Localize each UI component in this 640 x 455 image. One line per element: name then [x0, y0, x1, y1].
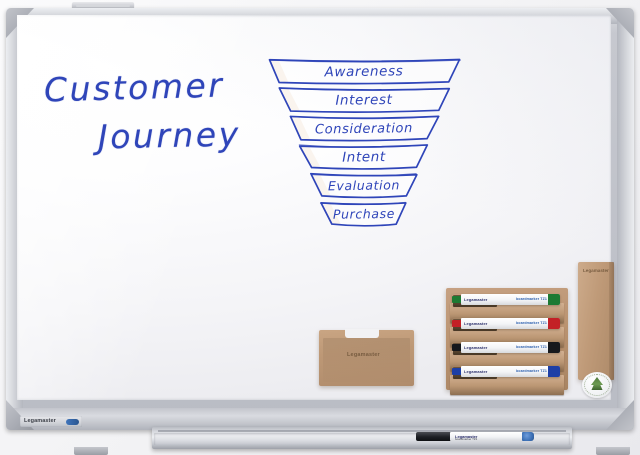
handwriting-line-customer: Customer — [43, 65, 224, 109]
whiteboard-scene: Legamaster Customer Journey AwarenessInt… — [0, 0, 640, 455]
marker-blue[interactable]: Legamasterboardmarker TZ1 — [452, 366, 560, 377]
funnel-stage-consideration: Consideration — [290, 116, 439, 140]
marker-brand: Legamaster — [464, 345, 487, 350]
funnel-stage-label: Intent — [342, 149, 386, 166]
funnel-stage-awareness: Awareness — [270, 59, 461, 83]
tray-mount-left — [74, 447, 108, 455]
eco-tree-badge-icon — [582, 372, 612, 398]
funnel-stage-evaluation: Evaluation — [311, 174, 417, 198]
marker-black[interactable]: Legamasterboardmarker TZ1 — [452, 342, 560, 353]
tray-marker-cap — [416, 432, 454, 441]
funnel-stage-label: Consideration — [315, 121, 413, 137]
marker-model: boardmarker TZ1 — [516, 345, 547, 349]
tall-eraser-brand: Legamaster — [583, 268, 609, 273]
marker-brand: Legamaster — [464, 369, 487, 374]
funnel-stage-purchase: Purchase — [320, 202, 405, 225]
funnel-svg: AwarenessInterestConsiderationIntentEval… — [264, 50, 464, 250]
marker-end-cap — [548, 318, 560, 329]
eraser-holder-notch — [345, 329, 379, 338]
marker-model: boardmarker TZ1 — [516, 297, 547, 301]
funnel-stage-interest: Interest — [279, 88, 449, 112]
funnel-stage-intent: Intent — [299, 145, 427, 169]
marker-model: boardmarker TZ1 — [516, 369, 547, 373]
tray-mount-right — [596, 447, 630, 455]
eraser-holder-cardboard[interactable]: Legamaster — [319, 330, 414, 386]
funnel-stage-label: Interest — [335, 92, 392, 109]
marker-green[interactable]: Legamasterboardmarker TZ1 — [452, 294, 560, 305]
handwriting-line-journey: Journey — [98, 115, 241, 157]
marker-end-cap — [548, 342, 560, 353]
frame-brand-label: Legamaster — [24, 418, 56, 424]
funnel-stage-label: Awareness — [323, 63, 403, 80]
tray-marker-model: boardmarker TZ1 — [455, 437, 477, 441]
marker-model: boardmarker TZ1 — [516, 321, 547, 325]
marker-end-cap — [548, 294, 560, 305]
eraser-holder-inner — [323, 338, 410, 382]
tray-marker[interactable]: Legamaster boardmarker TZ1 — [416, 432, 534, 441]
tray-marker-end — [522, 432, 534, 441]
marker-red[interactable]: Legamasterboardmarker TZ1 — [452, 318, 560, 329]
marker-organizer[interactable]: Legamasterboardmarker TZ1Legamasterboard… — [446, 288, 568, 390]
marker-brand: Legamaster — [464, 321, 487, 326]
marker-brand: Legamaster — [464, 297, 487, 302]
tall-eraser-cardboard[interactable]: Legamaster — [578, 262, 614, 380]
frame-brand-plate: Legamaster — [20, 416, 82, 427]
funnel-stage-label: Purchase — [333, 206, 395, 222]
marker-end-cap — [548, 366, 560, 377]
frame-right-rail — [617, 8, 634, 430]
frame-brand-dot — [66, 419, 79, 425]
eraser-holder-brand: Legamaster — [347, 352, 380, 358]
customer-journey-funnel: AwarenessInterestConsiderationIntentEval… — [264, 50, 464, 250]
tall-eraser-edge — [609, 262, 614, 380]
funnel-stage-label: Evaluation — [328, 177, 400, 193]
